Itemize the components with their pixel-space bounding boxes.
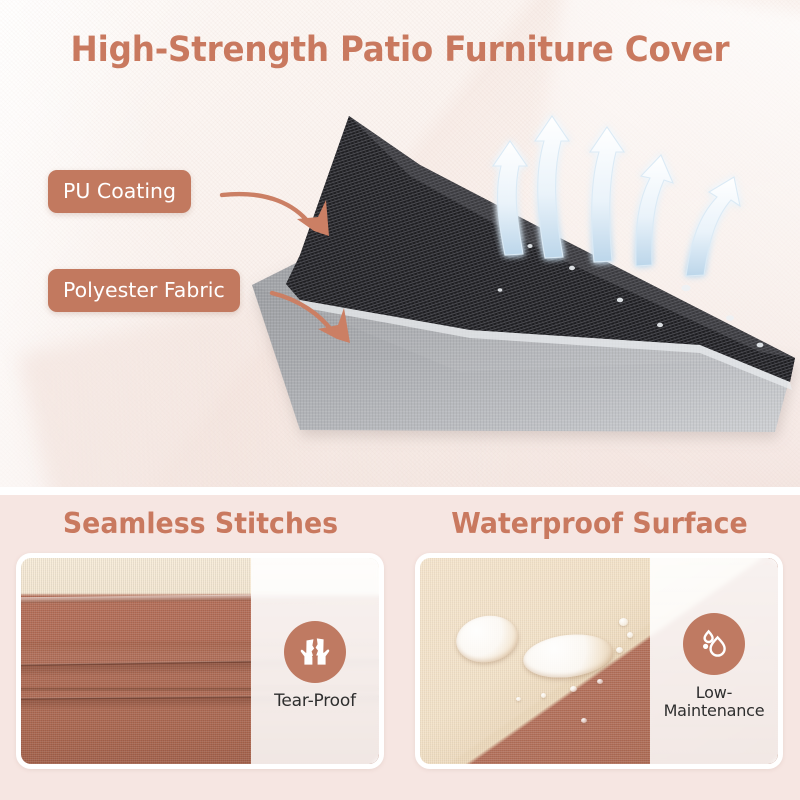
badge-panel-low-maintenance: Low-Maintenance <box>650 558 778 764</box>
feature-waterproof-surface: Waterproof Surface <box>407 495 792 800</box>
badge-label-line-2: Maintenance <box>664 701 765 720</box>
badge-panel-tear-proof: Tear-Proof <box>251 558 379 764</box>
water-droplet-icon <box>683 613 745 675</box>
feature-title-seamless-stitches: Seamless Stitches <box>20 507 382 540</box>
features-section: Seamless Stitches <box>0 495 800 800</box>
badge-label-tear-proof: Tear-Proof <box>274 692 356 711</box>
callout-badge-polyester-fabric: Polyester Fabric <box>48 269 240 312</box>
badge-label-low-maintenance: Low-Maintenance <box>664 684 765 720</box>
callout-badge-pu-coating: PU Coating <box>48 170 191 213</box>
water-microbead <box>570 686 577 692</box>
feature-card-seamless-stitches: Tear-Proof <box>16 553 384 769</box>
water-microbead <box>581 718 587 723</box>
badge-label-line-1: Low- <box>696 683 732 702</box>
water-microbead <box>541 693 546 698</box>
water-microbead <box>619 618 628 626</box>
feature-seamless-stitches: Seamless Stitches <box>8 495 393 800</box>
water-microbead <box>597 679 603 684</box>
feature-title-waterproof-surface: Waterproof Surface <box>419 507 781 540</box>
page-title: High-Strength Patio Furniture Cover <box>28 30 772 70</box>
fabric-swatch-illustration <box>0 0 800 487</box>
feature-card-waterproof-surface: Low-Maintenance <box>415 553 783 769</box>
water-microbead <box>616 647 623 653</box>
hero-panel: High-Strength Patio Furniture Cover PU C… <box>0 0 800 487</box>
tear-hands-icon <box>284 621 346 683</box>
water-microbead <box>627 632 633 638</box>
water-microbead <box>516 697 521 701</box>
